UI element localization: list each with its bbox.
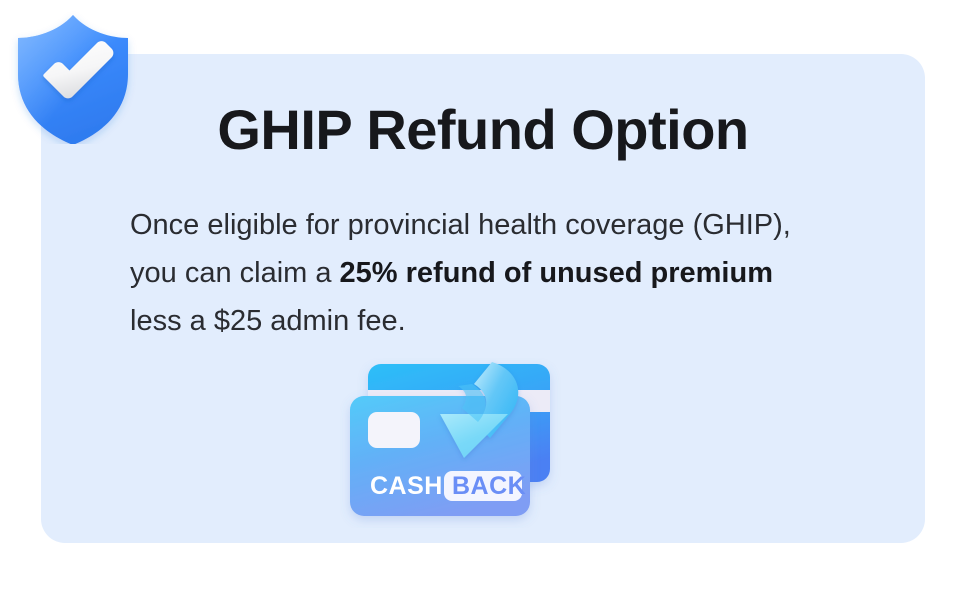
body-text-tail: less a $25 admin fee.	[130, 305, 406, 337]
page-title: GHIP Refund Option	[41, 100, 925, 160]
body-text-highlight: 25% refund of unused premium	[340, 257, 773, 289]
cash-label: CASH	[370, 472, 443, 500]
back-label: BACK	[452, 472, 526, 500]
shield-check-icon	[8, 8, 138, 144]
body-paragraph: Once eligible for provincial health cove…	[130, 201, 830, 345]
cashback-cards-icon: CASH BACK	[340, 358, 590, 528]
